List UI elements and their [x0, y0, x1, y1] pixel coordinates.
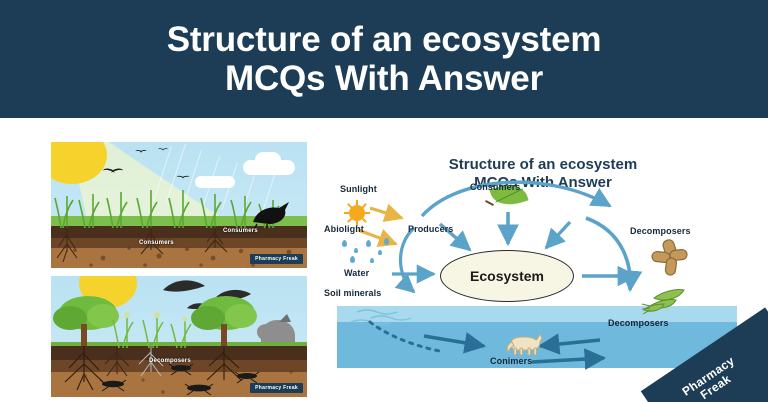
label-sunlight: Sunlight [340, 184, 377, 194]
bird-icon [135, 150, 147, 154]
label-abiolight: Abiolight [324, 224, 364, 234]
label-consumers: Consumers [470, 182, 520, 192]
label-producers: Producers [408, 224, 453, 234]
ecosystem-node: Ecosystem [440, 250, 574, 302]
label-conimers: Conimers [490, 356, 532, 366]
photo-label-consumers-2: Consumers [223, 228, 258, 234]
animal-icon [504, 330, 546, 356]
header-banner: Structure of an ecosystem MCQs With Answ… [0, 0, 768, 118]
water-drop-icon [350, 256, 355, 263]
grass-tufts [111, 312, 201, 348]
photo-watermark-badge: Pharmacy Freak [250, 383, 303, 393]
animal-icon [251, 310, 303, 344]
water-drop-icon [354, 248, 358, 253]
photo-label-consumers-1: Consumers [139, 240, 174, 246]
bird-icon [176, 176, 189, 180]
page-root: Structure of an ecosystem MCQs With Answ… [0, 0, 768, 402]
label-water: Water [344, 268, 369, 278]
forest-decomposers-photo: Decomposers Pharmacy Freak [51, 276, 307, 397]
tree-trunk [81, 324, 87, 346]
header-title-line1: Structure of an ecosystem [167, 20, 602, 59]
sun-icon [344, 200, 370, 226]
label-decomposers-water: Decomposers [608, 318, 669, 328]
algae-icon [640, 288, 686, 314]
crow-icon [247, 198, 291, 228]
water-drop-icon [378, 250, 382, 255]
photo-watermark-badge: Pharmacy Freak [250, 254, 303, 264]
bird-icon [103, 169, 123, 176]
photo-label-decomposers: Decomposers [149, 358, 191, 364]
header-title-line2: MCQs With Answer [225, 59, 543, 98]
water-drop-icon [342, 240, 347, 247]
fungus-icon [650, 238, 690, 278]
label-soil-minerals: Soil minerals [324, 288, 381, 298]
grassland-ecosystem-photo: Consumers Consumers Pharmacy Freak [51, 142, 307, 268]
water-drop-icon [366, 240, 371, 247]
water-drop-icon [384, 238, 389, 245]
label-decomposers-top: Decomposers [630, 226, 691, 236]
bird-icon [158, 148, 168, 151]
ecosystem-node-label: Ecosystem [470, 268, 544, 284]
cloud-icon [255, 152, 281, 168]
tree-trunk [221, 324, 227, 346]
water-drop-icon [370, 258, 374, 263]
